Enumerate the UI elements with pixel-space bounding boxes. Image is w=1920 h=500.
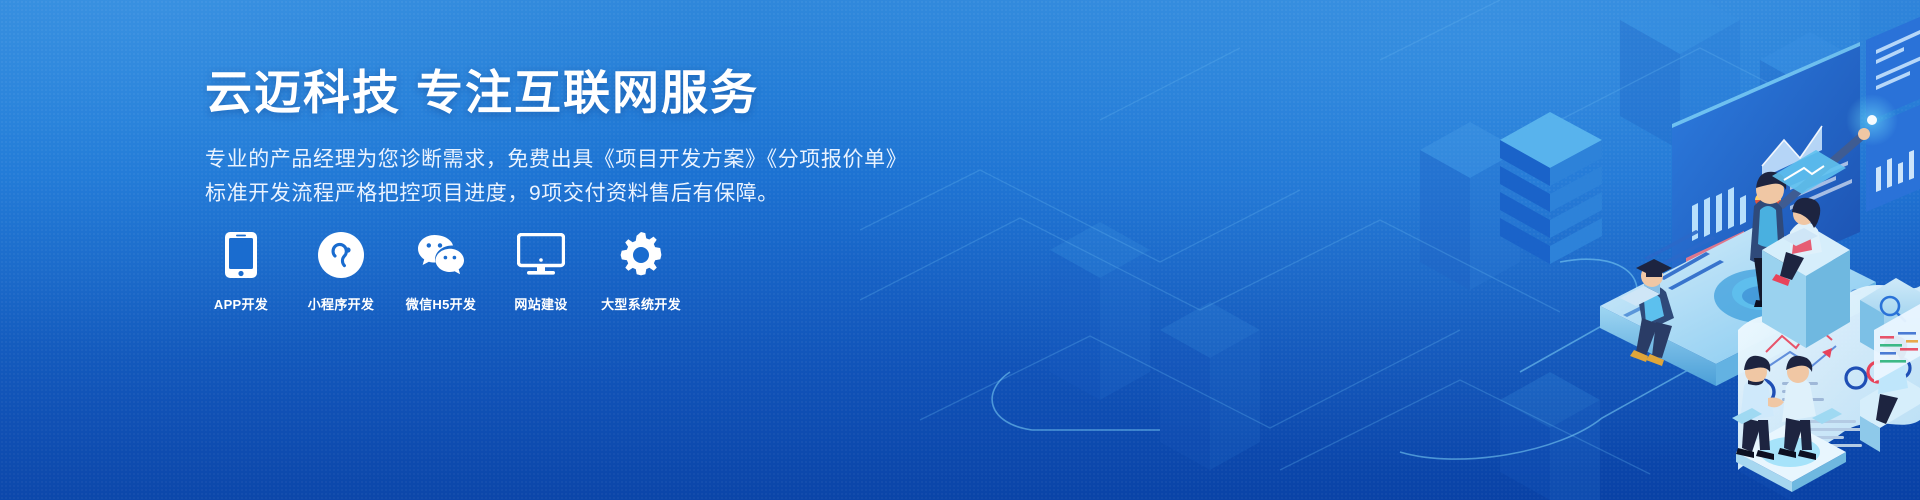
hero-subtitle: 专业的产品经理为您诊断需求，免费出具《项目开发方案》《分项报价单》 标准开发流程… [205,143,905,211]
gear-icon [616,230,666,280]
monitor-icon [516,230,566,280]
subtitle-line-1: 专业的产品经理为您诊断需求，免费出具《项目开发方案》《分项报价单》 [205,143,905,177]
mobile-phone-icon [216,230,266,280]
service-item-app[interactable]: APP开发 [205,230,277,313]
service-label: 大型系统开发 [601,294,681,313]
pedestal-woman-laptop [1762,150,1850,348]
pedestal-right-person [1860,336,1920,452]
bg-circuit-lines [860,0,1860,474]
hero-banner: 云迈科技 专注互联网服务 专业的产品经理为您诊断需求，免费出具《项目开发方案》《… [0,0,1920,500]
person-pointing [1742,128,1870,307]
person-laptop-seated [1620,230,1724,366]
hero-copy: 云迈科技 专注互联网服务 专业的产品经理为您诊断需求，免费出具《项目开发方案》《… [205,66,905,211]
service-item-website[interactable]: 网站建设 [505,230,577,313]
service-item-large-system[interactable]: 大型系统开发 [605,230,677,313]
service-list: APP开发 小程序开发 [205,230,677,313]
donut-chart [1755,191,1781,209]
subtitle-line-2: 标准开发流程严格把控项目进度，9项交付资料售后有保障。 [205,177,905,211]
people-handshake [1732,356,1846,492]
service-label: 网站建设 [514,294,567,313]
dashboard-screen [1672,0,1920,314]
service-item-mini-program[interactable]: 小程序开发 [305,230,377,313]
bg-accent-lines [992,259,1760,459]
report-scroll [1738,285,1920,470]
service-label: APP开发 [214,294,268,313]
cube-search [1860,278,1920,356]
hero-illustration [860,0,1920,500]
page-title: 云迈科技 专注互联网服务 [205,66,905,121]
service-label: 微信H5开发 [406,294,476,313]
bg-city-blocks [1050,0,1920,500]
mini-program-icon [316,230,366,280]
service-item-wechat-h5[interactable]: 微信H5开发 [405,230,477,313]
wechat-icon [416,230,466,280]
service-label: 小程序开发 [308,294,375,313]
phone-platform [1600,224,1876,386]
server-stack [1500,112,1602,264]
code-window [1874,304,1920,382]
